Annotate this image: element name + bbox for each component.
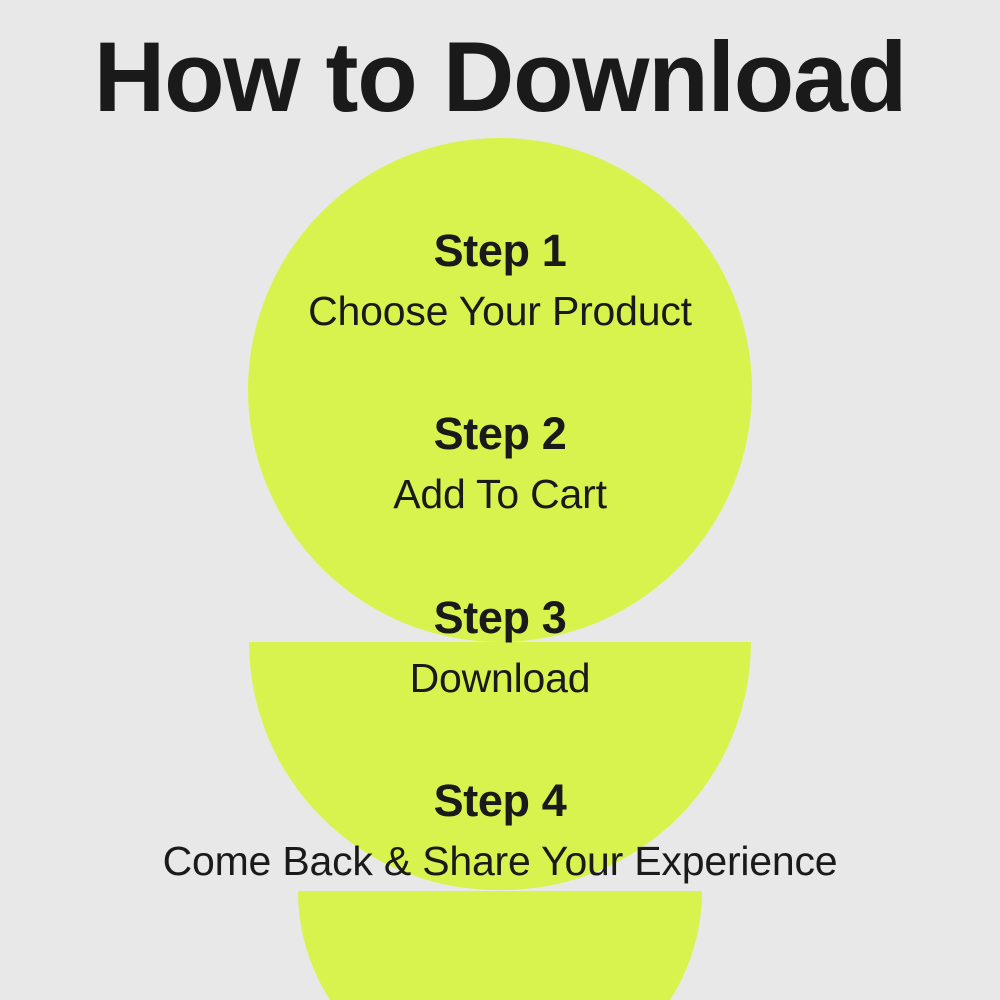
step-4-caption: Come Back & Share Your Experience — [0, 841, 1000, 882]
infographic-canvas: How to Download Step 1 Choose Your Produ… — [0, 0, 1000, 1000]
step-1-caption: Choose Your Product — [0, 291, 1000, 332]
step-block-1: Step 1 Choose Your Product — [0, 228, 1000, 332]
step-3-caption: Download — [0, 658, 1000, 699]
page-title: How to Download — [0, 23, 1000, 132]
step-2-heading: Step 2 — [0, 411, 1000, 456]
step-1-heading: Step 1 — [0, 228, 1000, 273]
content-layer: How to Download Step 1 Choose Your Produ… — [0, 0, 1000, 1000]
step-block-4: Step 4 Come Back & Share Your Experience — [0, 778, 1000, 882]
step-block-3: Step 3 Download — [0, 595, 1000, 699]
step-2-caption: Add To Cart — [0, 474, 1000, 515]
step-3-heading: Step 3 — [0, 595, 1000, 640]
step-4-heading: Step 4 — [0, 778, 1000, 823]
step-block-2: Step 2 Add To Cart — [0, 411, 1000, 515]
